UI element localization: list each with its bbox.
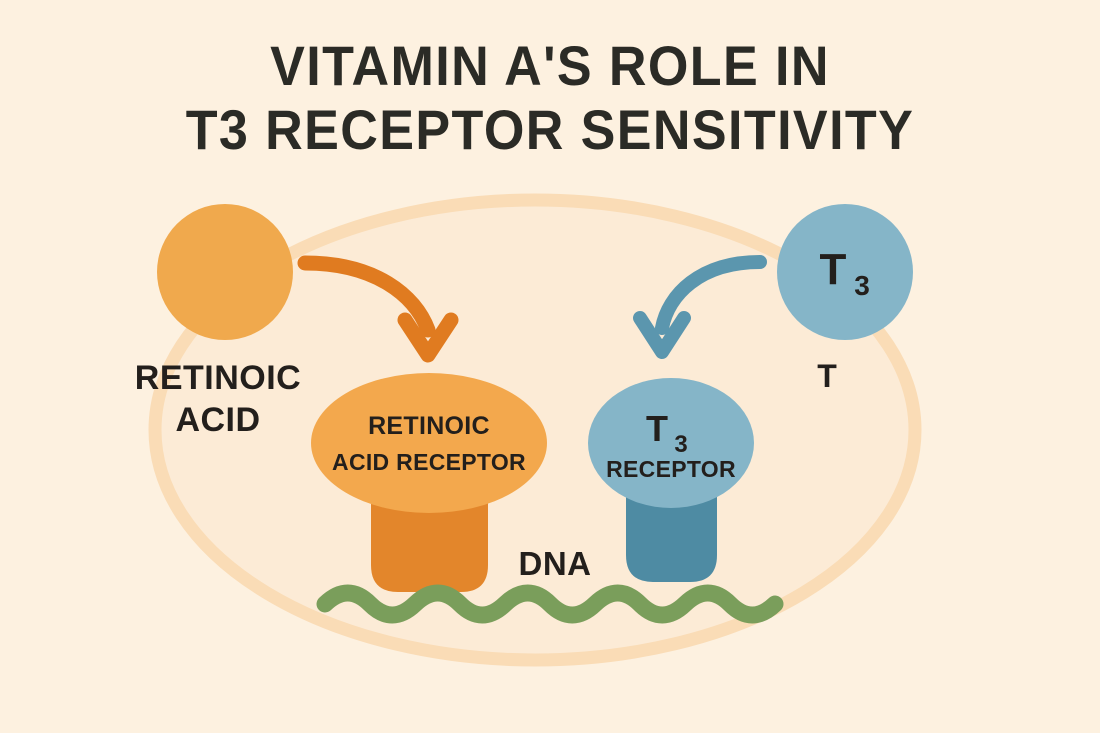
retinoic-acid-receptor-label-line2: ACID RECEPTOR [332,449,526,475]
t3-molecule-label-sub: 3 [854,270,870,301]
t3-receptor-label-main: T [646,408,668,449]
t3-receptor-label-line2: RECEPTOR [606,456,736,482]
cell-diagram: RETINOIC ACID RECEPTOR T 3 RECEPTOR RETI… [0,0,1100,733]
retinoic-acid-label-line1: RETINOIC [135,359,301,397]
t3-stray-label: T [817,358,837,394]
retinoic-acid-molecule[interactable] [157,204,293,340]
t3-molecule-label-main: T [820,245,847,294]
retinoic-acid-label-line2: ACID [175,401,260,439]
t3-receptor-head[interactable] [588,378,754,508]
t3-receptor-label-sub: 3 [674,431,687,458]
dna-label: DNA [519,545,592,582]
retinoic-acid-receptor-head[interactable] [311,373,547,513]
diagram-canvas: VITAMIN A'S ROLE IN T3 RECEPTOR SENSITIV… [0,0,1100,733]
retinoic-acid-receptor-label-line1: RETINOIC [368,412,490,440]
